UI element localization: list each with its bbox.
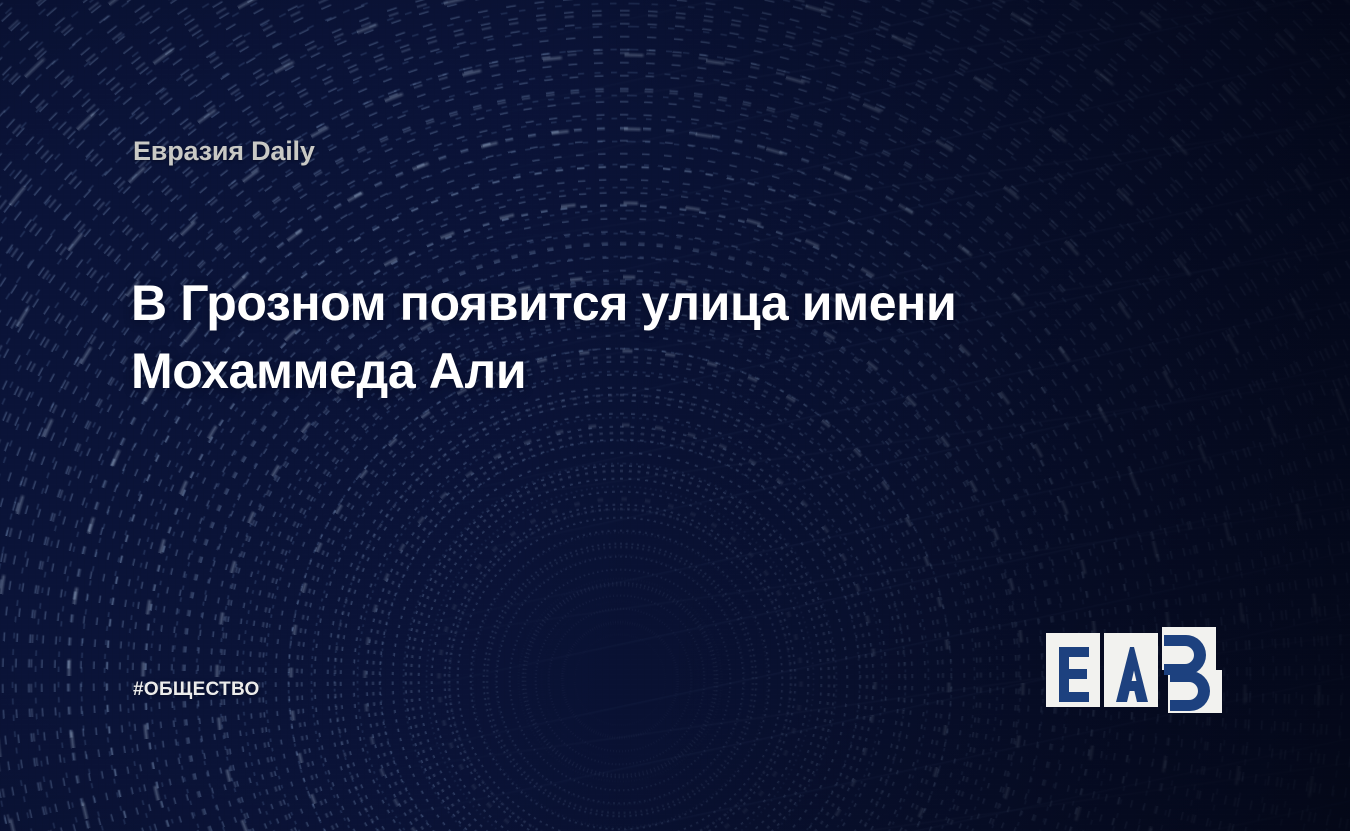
card-content: Евразия Daily В Грозном появится улица и… xyxy=(0,0,1350,831)
logo-letter-e xyxy=(1059,647,1089,702)
brand-name: Евразия Daily xyxy=(133,136,315,167)
category-tag: #ОБЩЕСТВО xyxy=(133,679,260,701)
social-share-card: Евразия Daily В Грозном появится улица и… xyxy=(0,0,1350,831)
ead-logo xyxy=(1046,627,1222,713)
headline-text: В Грозном появится улица имени Мохаммеда… xyxy=(131,269,1061,405)
